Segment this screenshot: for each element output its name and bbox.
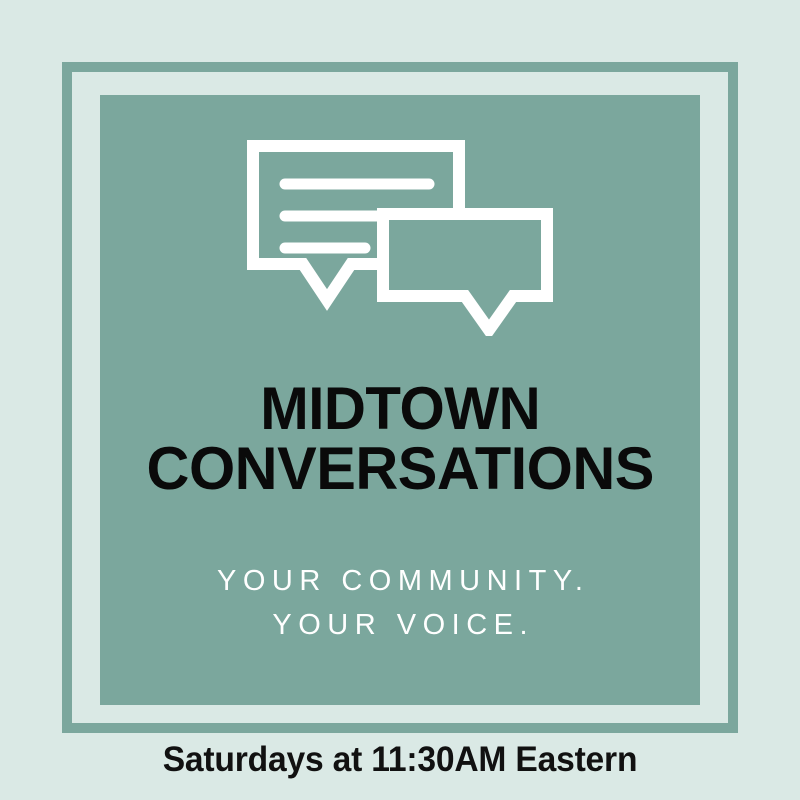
inner-teal-panel: MIDTOWN CONVERSATIONS YOUR COMMUNITY. YO… [100,95,700,705]
title-line-midtown: MIDTOWN [151,380,648,438]
page-title: MIDTOWN CONVERSATIONS [144,380,656,497]
podcast-cover-art: MIDTOWN CONVERSATIONS YOUR COMMUNITY. YO… [0,0,800,800]
speech-bubble-right [383,214,547,330]
tagline-line-voice: YOUR VOICE. [211,603,590,647]
tagline: YOUR COMMUNITY. YOUR VOICE. [211,559,590,647]
tagline-line-community: YOUR COMMUNITY. [211,559,590,603]
schedule-caption: Saturdays at 11:30AM Eastern [16,740,784,780]
speech-bubbles-icon [247,140,553,336]
title-line-conversations: CONVERSATIONS [146,440,653,498]
